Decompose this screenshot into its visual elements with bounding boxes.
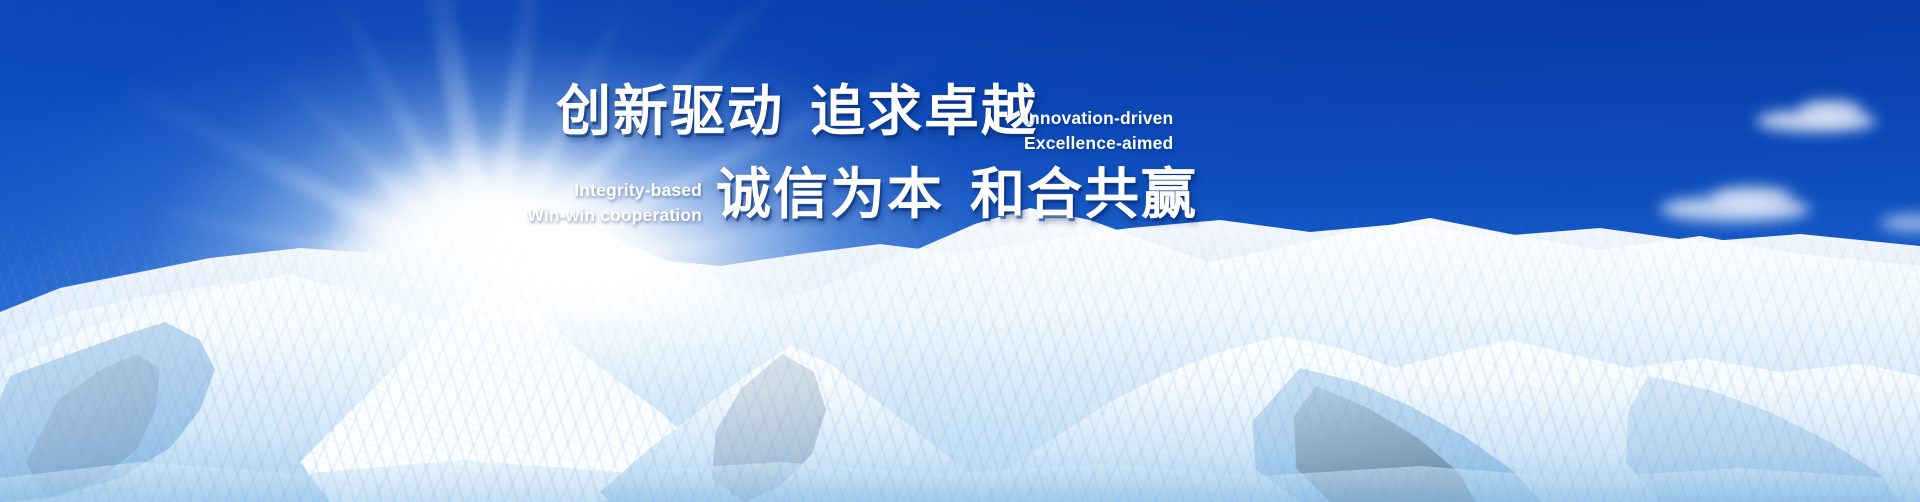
slogan-cn-primary-b: 追求卓越 bbox=[810, 79, 1038, 143]
hero-banner: 创新驱动追求卓越 Innovation-driven Excellence-ai… bbox=[0, 0, 1920, 502]
slogan-en-secondary-line2: Win-win cooperation bbox=[524, 203, 702, 228]
slogan-en-primary-line1: Innovation-driven bbox=[1024, 106, 1173, 131]
slogan-english-secondary: Integrity-based Win-win cooperation bbox=[524, 178, 702, 228]
slogan-english-primary: Innovation-driven Excellence-aimed bbox=[1024, 106, 1173, 156]
slogan-en-primary-line2: Excellence-aimed bbox=[1024, 131, 1173, 156]
slogan-cn-secondary-a: 诚信为本 bbox=[716, 162, 944, 226]
slogan-cn-secondary-b: 和合共赢 bbox=[970, 162, 1198, 226]
slogan-chinese-secondary: 诚信为本和合共赢 bbox=[716, 166, 1198, 224]
slogan-cn-primary-a: 创新驱动 bbox=[556, 79, 784, 143]
slogan-chinese-primary: 创新驱动追求卓越 bbox=[556, 83, 1038, 141]
slogan-en-secondary-line1: Integrity-based bbox=[524, 178, 702, 203]
